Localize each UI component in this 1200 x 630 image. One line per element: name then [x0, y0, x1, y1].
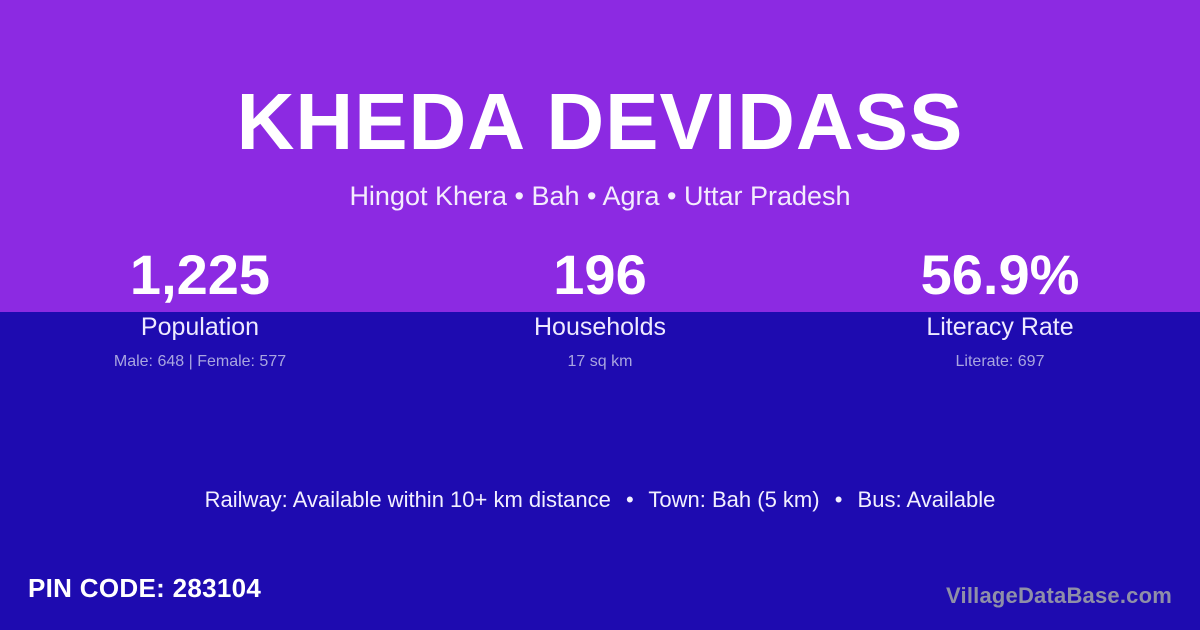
stat-population-sub: Male: 648 | Female: 577: [0, 352, 400, 371]
infra-separator-2: •: [826, 486, 852, 514]
stat-literacy: 56.9% Literacy Rate Literate: 697: [800, 246, 1200, 371]
page-title: KHEDA DEVIDASS: [0, 82, 1200, 162]
pin-code-label: PIN CODE: 283104: [28, 572, 261, 605]
stat-households-label: Households: [400, 312, 800, 342]
stat-households: 196 Households 17 sq km: [400, 246, 800, 371]
village-info-card: KHEDA DEVIDASS Hingot Khera • Bah • Agra…: [0, 0, 1200, 630]
stat-households-value: 196: [400, 246, 800, 306]
brand-watermark: VillageDataBase.com: [946, 582, 1172, 610]
stat-literacy-value: 56.9%: [800, 246, 1200, 306]
stats-row: 1,225 Population Male: 648 | Female: 577…: [0, 246, 1200, 371]
infra-town: Town: Bah (5 km): [648, 487, 819, 512]
stat-population-value: 1,225: [0, 246, 400, 306]
stat-literacy-sub: Literate: 697: [800, 352, 1200, 371]
infra-railway: Railway: Available within 10+ km distanc…: [205, 487, 611, 512]
stat-households-sub: 17 sq km: [400, 352, 800, 371]
infra-separator-1: •: [617, 486, 643, 514]
stat-literacy-label: Literacy Rate: [800, 312, 1200, 342]
infrastructure-line: Railway: Available within 10+ km distanc…: [0, 486, 1200, 514]
breadcrumb: Hingot Khera • Bah • Agra • Uttar Prades…: [0, 182, 1200, 212]
card-footer: PIN CODE: 283104 VillageDataBase.com: [0, 572, 1200, 616]
stat-population: 1,225 Population Male: 648 | Female: 577: [0, 246, 400, 371]
infra-bus: Bus: Available: [858, 487, 996, 512]
stat-population-label: Population: [0, 312, 400, 342]
